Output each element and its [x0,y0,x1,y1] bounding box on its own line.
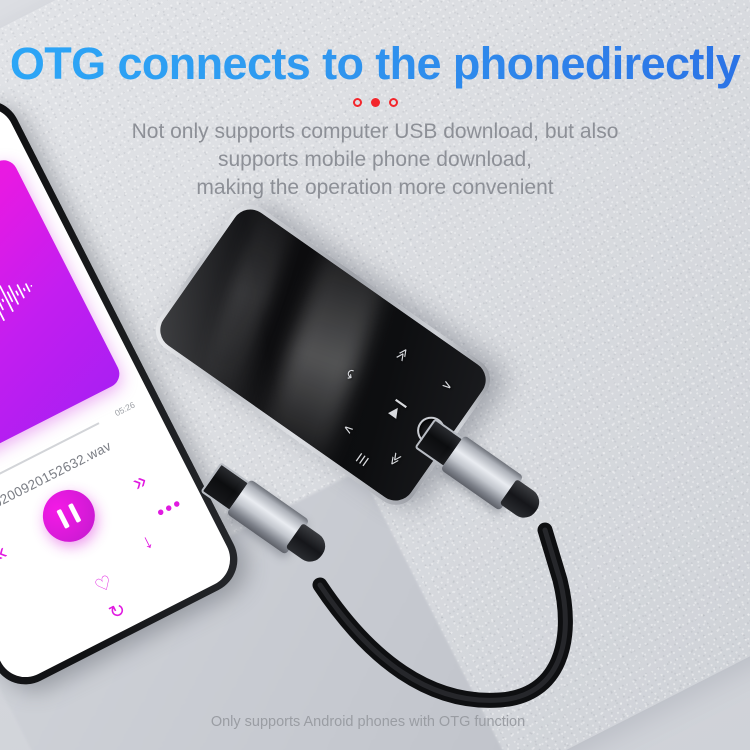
page-title: OTG connects to the phonedirectly [0,38,750,90]
previous-button[interactable]: « [0,538,11,568]
favorite-icon[interactable]: ♡ [91,571,117,599]
play-pause-button[interactable] [34,481,104,551]
subtitle-line-3: making the operation more convenient [0,174,750,202]
dot-hollow-left [353,98,362,107]
subtitle: Not only supports computer USB download,… [0,118,750,202]
more-options-icon[interactable]: ••• [153,492,188,525]
subtitle-line-1: Not only supports computer USB download,… [0,118,750,146]
decorative-dots [0,98,750,107]
download-icon[interactable]: ↓ [138,530,157,555]
subtitle-line-2: supports mobile phone download, [0,146,750,174]
product-marketing-image: OTG connects to the phonedirectly Not on… [0,0,750,750]
next-button[interactable]: » [128,467,152,497]
repeat-icon[interactable]: ↻ [105,598,130,626]
total-time: 05:26 [113,400,137,419]
dot-solid-middle [371,98,380,107]
dot-hollow-right [389,98,398,107]
footnote: Only supports Android phones with OTG fu… [0,714,750,730]
